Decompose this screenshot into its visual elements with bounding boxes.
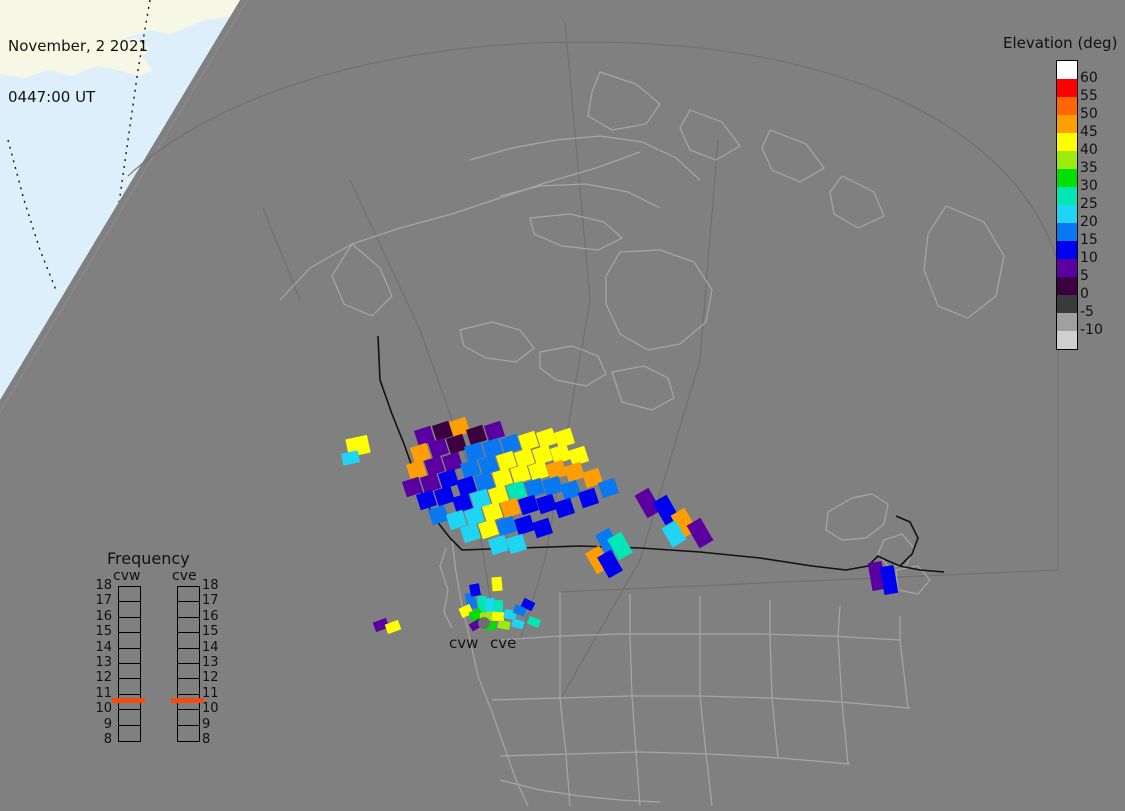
site-label-cve: cve [490,634,516,652]
colorbar-swatch-10 [1057,241,1077,259]
colorbar-label-45: 45 [1080,124,1098,140]
colorbar [1056,60,1078,350]
colorbar-label-25: 25 [1080,196,1098,212]
frequency-tick-cve-12: 12 [202,670,224,685]
frequency-tick-cvw-12: 12 [90,670,112,685]
colorbar-swatch-14 [1057,313,1077,331]
frequency-row-cvw-8 [119,710,140,725]
colorbar-label-30: 30 [1080,178,1098,194]
frequency-tick-cvw-9: 9 [90,717,112,732]
colorbar-label-55: 55 [1080,88,1098,104]
frequency-row-cve-9 [178,726,199,741]
frequency-row-cve-3 [178,633,199,648]
colorbar-label-60: 60 [1080,70,1098,86]
frequency-marker-cve [171,698,204,703]
frequency-tick-cvw-17: 17 [90,593,112,608]
colorbar-label--5: -5 [1080,304,1094,320]
colorbar-swatch-11 [1057,259,1077,277]
frequency-tick-cve-17: 17 [202,593,224,608]
frequency-tick-cve-14: 14 [202,640,224,655]
frequency-tick-cve-11: 11 [202,686,224,701]
frequency-column-header-cvw: cvw [113,568,140,584]
colorbar-label-35: 35 [1080,160,1098,176]
colorbar-label-40: 40 [1080,142,1098,158]
frequency-row-cve-0 [178,587,199,602]
frequency-tick-cvw-11: 11 [90,686,112,701]
colorbar-label-5: 5 [1080,268,1089,284]
colorbar-swatch-13 [1057,295,1077,313]
colorbar-swatch-7 [1057,187,1077,205]
frequency-scale-cve [177,586,200,742]
frequency-tick-cve-10: 10 [202,701,224,716]
frequency-row-cvw-1 [119,602,140,617]
colorbar-swatch-8 [1057,205,1077,223]
timestamp-time: 0447:00 UT [8,89,148,106]
frequency-tick-cvw-13: 13 [90,655,112,670]
radar-map-canvas: November, 2 2021 0447:00 UT Elevation (d… [0,0,1125,811]
radar-origin-dot [478,617,490,629]
frequency-tick-cvw-8: 8 [90,732,112,747]
frequency-tick-cvw-14: 14 [90,640,112,655]
frequency-marker-cvw [112,698,145,703]
colorbar-swatch-2 [1057,97,1077,115]
frequency-tick-cve-18: 18 [202,578,224,593]
frequency-row-cvw-3 [119,633,140,648]
frequency-row-cve-2 [178,618,199,633]
site-label-cvw: cvw [449,634,478,652]
radar-site-marker-layer [0,0,1125,811]
frequency-row-cve-6 [178,679,199,694]
frequency-row-cvw-2 [119,618,140,633]
colorbar-label--10: -10 [1080,322,1103,338]
frequency-tick-cvw-15: 15 [90,624,112,639]
frequency-row-cvw-5 [119,664,140,679]
colorbar-label-10: 10 [1080,250,1098,266]
colorbar-label-0: 0 [1080,286,1089,302]
frequency-tick-cvw-16: 16 [90,609,112,624]
frequency-row-cvw-6 [119,679,140,694]
colorbar-swatch-0 [1057,61,1077,79]
colorbar-label-15: 15 [1080,232,1098,248]
frequency-tick-cve-8: 8 [202,732,224,747]
colorbar-swatch-1 [1057,79,1077,97]
frequency-column-header-cve: cve [172,568,197,584]
frequency-legend-title: Frequency [107,549,190,568]
colorbar-label-20: 20 [1080,214,1098,230]
colorbar-swatch-12 [1057,277,1077,295]
colorbar-title: Elevation (deg) [1003,34,1117,52]
frequency-tick-cve-9: 9 [202,717,224,732]
colorbar-swatch-3 [1057,115,1077,133]
timestamp-block: November, 2 2021 0447:00 UT [8,4,148,140]
colorbar-label-50: 50 [1080,106,1098,122]
timestamp-date: November, 2 2021 [8,38,148,55]
colorbar-swatch-9 [1057,223,1077,241]
frequency-tick-cve-15: 15 [202,624,224,639]
colorbar-swatch-4 [1057,133,1077,151]
colorbar-swatch-5 [1057,151,1077,169]
frequency-tick-cve-13: 13 [202,655,224,670]
colorbar-swatch-15 [1057,331,1077,349]
frequency-row-cvw-9 [119,726,140,741]
frequency-row-cvw-0 [119,587,140,602]
colorbar-swatch-6 [1057,169,1077,187]
frequency-tick-cvw-10: 10 [90,701,112,716]
frequency-row-cve-5 [178,664,199,679]
frequency-scale-cvw [118,586,141,742]
frequency-row-cve-4 [178,649,199,664]
frequency-tick-cve-16: 16 [202,609,224,624]
frequency-row-cve-8 [178,710,199,725]
frequency-tick-cvw-18: 18 [90,578,112,593]
frequency-row-cvw-4 [119,649,140,664]
frequency-row-cve-1 [178,602,199,617]
